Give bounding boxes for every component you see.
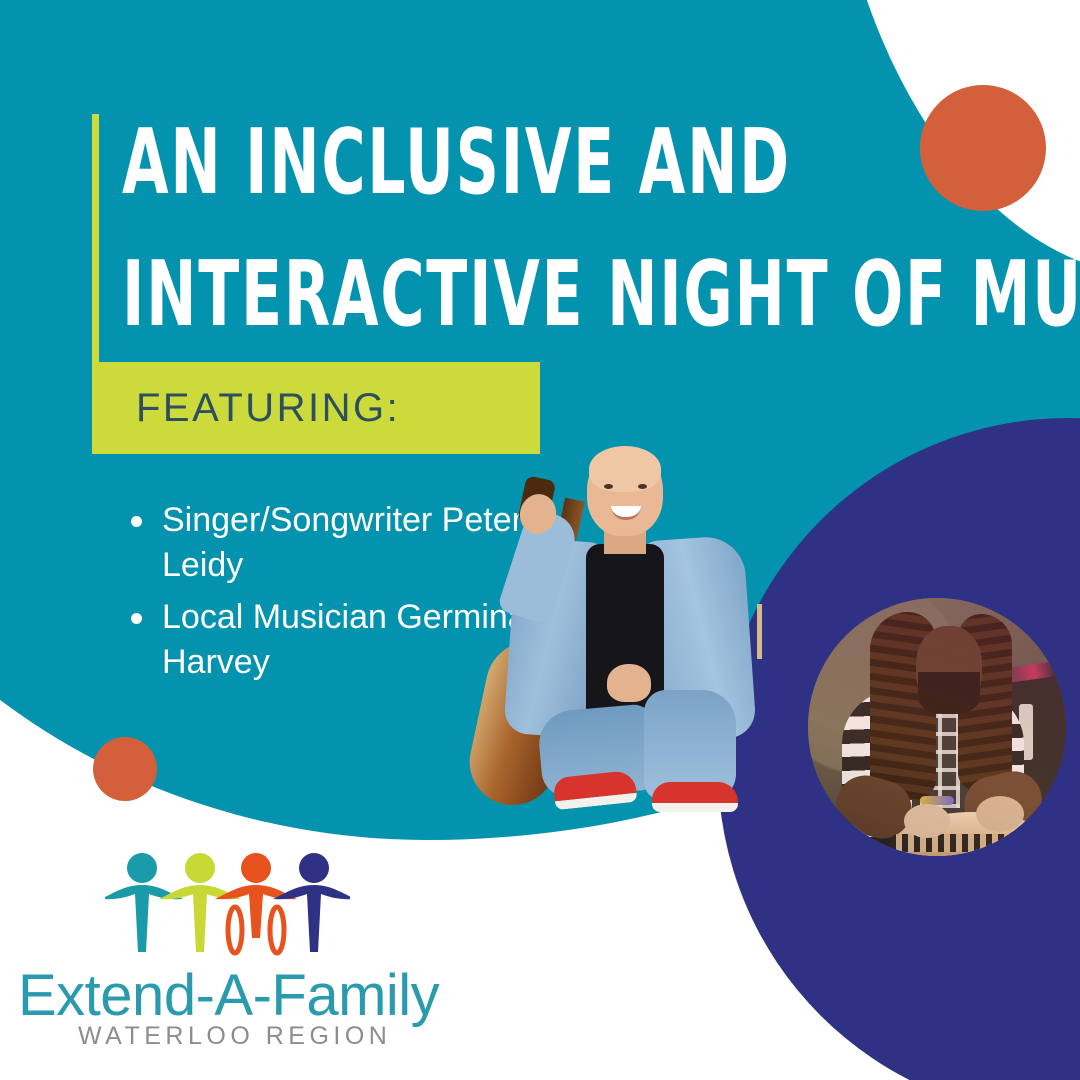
red-sneaker-right	[652, 782, 738, 812]
orange-circle-top-right	[920, 85, 1046, 211]
eye-left	[604, 484, 613, 489]
figure-teal-icon	[105, 853, 183, 952]
logo-figures-icon	[105, 852, 350, 957]
bald-scalp	[589, 446, 661, 492]
right-hand	[607, 664, 651, 702]
logo-subtitle: WATERLOO REGION	[78, 1022, 391, 1051]
logo-wordmark: Extend-A-Family	[18, 962, 432, 1029]
featuring-label: FEATURING:	[136, 386, 400, 431]
eye-right	[638, 484, 647, 489]
lime-accent-vertical-line	[92, 114, 99, 362]
headline-line-2: INTERACTIVE NIGHT OF MUSIC!	[122, 228, 852, 360]
headline-line-1: AN INCLUSIVE AND	[122, 96, 852, 228]
page-title: AN INCLUSIVE AND INTERACTIVE NIGHT OF MU…	[122, 96, 852, 360]
photo-color-tint	[808, 598, 1066, 856]
orange-circle-bottom-left	[93, 737, 157, 801]
guitarist-photo	[468, 440, 768, 812]
drummer-photo	[808, 598, 1066, 856]
poster-canvas: AN INCLUSIVE AND INTERACTIVE NIGHT OF MU…	[0, 0, 1080, 1080]
figure-orange-wheelchair-icon	[215, 853, 297, 953]
